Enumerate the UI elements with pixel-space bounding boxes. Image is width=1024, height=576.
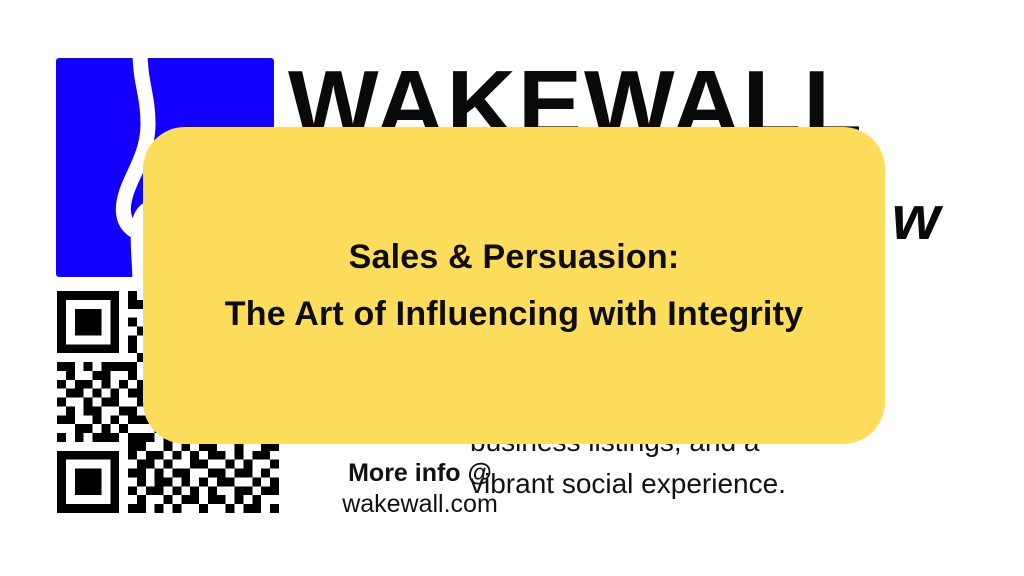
more-info-label: More info @ [300, 458, 540, 489]
title-card-line-1: Sales & Persuasion: [349, 237, 680, 278]
poster-canvas: WAKEWALL w ces, business listings, and a… [0, 0, 1024, 576]
more-info-block: More info @ wakewall.com [300, 458, 540, 519]
title-card-line-2: The Art of Influencing with Integrity [225, 294, 803, 335]
more-info-url[interactable]: wakewall.com [300, 489, 540, 520]
promo-blurb-line-3: vibrant social experience. [470, 463, 940, 506]
title-card: Sales & Persuasion: The Art of Influenci… [143, 127, 885, 444]
